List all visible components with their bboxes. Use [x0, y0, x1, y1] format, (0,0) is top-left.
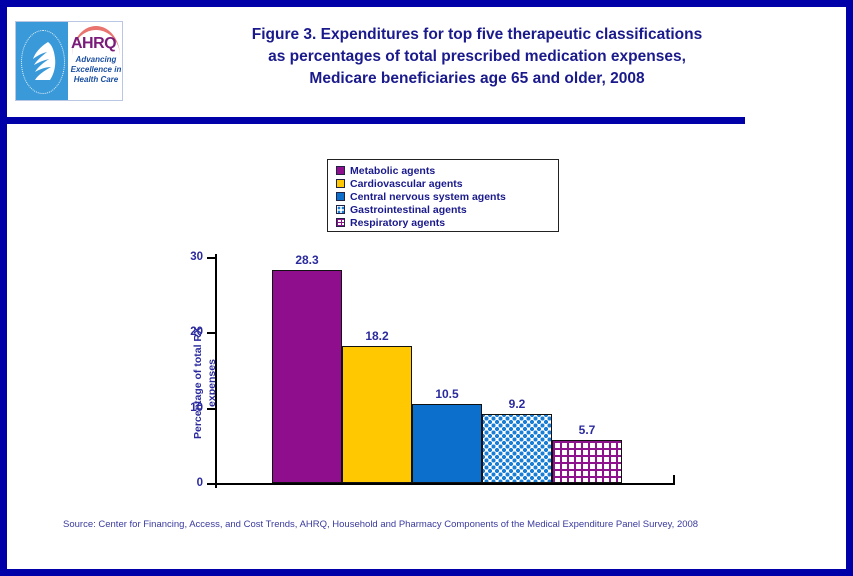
y-tick-label: 30: [190, 251, 203, 263]
figure-title-line-3: Medicare beneficiaries age 65 and older,…: [147, 68, 807, 90]
legend-swatch-cardiovascular: [336, 179, 345, 188]
hhs-seal-icon: [16, 22, 68, 100]
source-note: Source: Center for Financing, Access, an…: [63, 519, 698, 530]
y-tick-mark: [207, 332, 215, 334]
legend-label-cardiovascular: Cardiovascular agents: [350, 178, 463, 190]
bar-value-label: 9.2: [509, 397, 526, 411]
bar-central-nervous-system[interactable]: 10.5: [412, 404, 482, 483]
bar-value-label: 28.3: [295, 253, 318, 267]
legend-swatch-metabolic: [336, 166, 345, 175]
y-tick-mark: [207, 483, 215, 485]
y-tick-label: 20: [190, 326, 203, 338]
bar-respiratory[interactable]: 5.7: [552, 440, 622, 483]
ahrq-tagline-line-3: Health Care: [68, 75, 122, 85]
bar-gastrointestinal[interactable]: 9.2: [482, 414, 552, 483]
bar-value-label: 5.7: [579, 423, 596, 437]
legend-item: Gastrointestinal agents: [336, 203, 558, 216]
hhs-bird-icon: [26, 38, 58, 84]
y-tick-mark: [207, 257, 215, 259]
ahrq-tagline-line-1: Advancing: [68, 55, 122, 65]
legend-swatch-cns: [336, 192, 345, 201]
ahrq-tagline-line-2: Excellence in: [68, 65, 122, 75]
figure-page: AHRQ Advancing Excellence in Health Care…: [0, 0, 853, 576]
chart-legend: Metabolic agents Cardiovascular agents C…: [327, 159, 559, 232]
y-tick-label: 0: [197, 477, 203, 489]
figure-title-line-1: Figure 3. Expenditures for top five ther…: [147, 24, 807, 46]
ahrq-tagline: Advancing Excellence in Health Care: [68, 55, 122, 85]
legend-label-metabolic: Metabolic agents: [350, 165, 435, 177]
legend-item: Respiratory agents: [336, 216, 558, 229]
x-axis-line: [215, 483, 675, 485]
ahrq-acronym: AHRQ: [71, 35, 121, 53]
y-tick-mark: [207, 408, 215, 410]
bar-chart: Metabolic agents Cardiovascular agents C…: [7, 124, 846, 509]
y-axis-line: [215, 254, 217, 488]
figure-title-line-2: as percentages of total prescribed medic…: [147, 46, 807, 68]
bar-cardiovascular[interactable]: 18.2: [342, 346, 412, 483]
plot-area: 0 10 20 30 28.3 18.2 10.5: [215, 257, 675, 485]
legend-label-cns: Central nervous system agents: [350, 191, 506, 203]
bar-metabolic[interactable]: 28.3: [272, 270, 342, 483]
legend-label-gastrointestinal: Gastrointestinal agents: [350, 204, 467, 216]
ahrq-wordmark: AHRQ Advancing Excellence in Health Care: [68, 22, 122, 100]
legend-label-respiratory: Respiratory agents: [350, 217, 445, 229]
header-divider: [7, 117, 745, 124]
legend-item: Central nervous system agents: [336, 190, 558, 203]
y-tick-label: 10: [190, 402, 203, 414]
legend-swatch-gastrointestinal: [336, 205, 345, 214]
agency-logo: AHRQ Advancing Excellence in Health Care: [15, 21, 123, 101]
legend-swatch-respiratory: [336, 218, 345, 227]
legend-item: Cardiovascular agents: [336, 177, 558, 190]
bar-value-label: 18.2: [365, 329, 388, 343]
figure-header: AHRQ Advancing Excellence in Health Care…: [7, 7, 846, 110]
figure-title: Figure 3. Expenditures for top five ther…: [147, 24, 807, 90]
bar-value-label: 10.5: [435, 387, 458, 401]
x-axis-end-tick: [673, 475, 675, 485]
legend-item: Metabolic agents: [336, 164, 558, 177]
